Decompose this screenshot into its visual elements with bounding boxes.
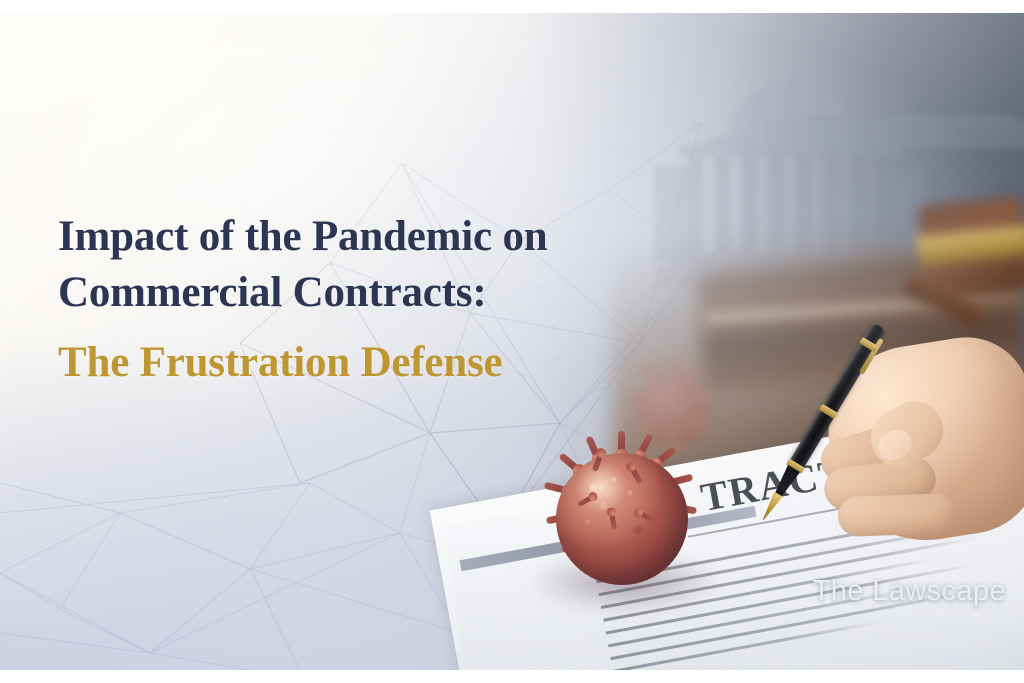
page-title: Impact of the Pandemic on Commercial Con… xyxy=(58,209,678,321)
headline-line-1: Impact of the Pandemic on xyxy=(58,209,678,265)
top-white-band xyxy=(0,0,1024,13)
pen-gold-nib xyxy=(759,492,783,523)
bottom-white-band xyxy=(0,670,1024,683)
page-subtitle: The Frustration Defense xyxy=(58,335,678,391)
article-hero-banner: TRACT xyxy=(0,0,1024,683)
coronavirus-particle-icon xyxy=(516,425,728,615)
brand-watermark: The Lawscape xyxy=(813,575,1006,608)
hand-finger-ring xyxy=(837,493,956,537)
hand-signing-document xyxy=(812,313,1024,581)
hero-image-stage: TRACT xyxy=(0,13,1024,670)
virus-surface-texture xyxy=(556,453,688,585)
headline-line-2: Commercial Contracts: xyxy=(58,265,678,321)
